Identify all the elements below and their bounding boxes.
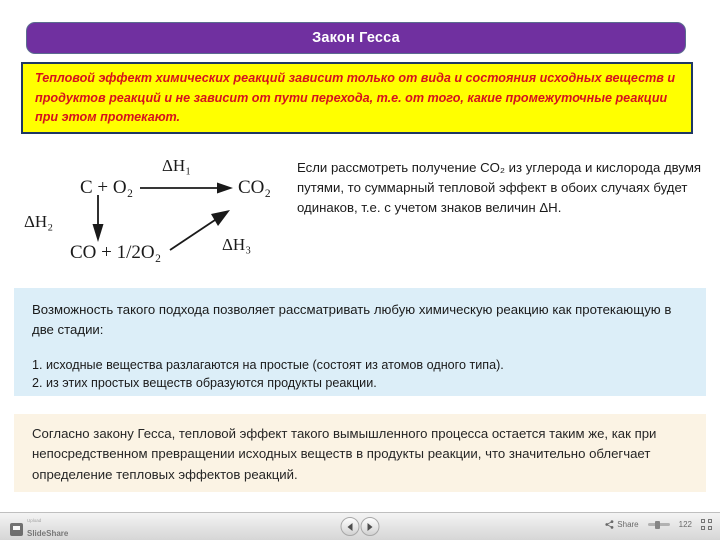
diagram-label-enthalpy-1: ΔH₁ [162,156,191,176]
slide-navigation [341,517,380,536]
share-label: Share [617,520,638,529]
list-item: 2. из этих простых веществ образуются пр… [32,374,690,393]
page-title: Закон Гесса [312,30,400,46]
two-stage-lead: Возможность такого подхода позволяет рас… [32,300,690,340]
brand-tagline: Upload [27,518,68,523]
definition-callout: Тепловой эффект химических реакций завис… [21,62,693,134]
fullscreen-corner-br [708,526,712,530]
slideshare-brand[interactable]: Upload SlideShare [10,518,68,541]
brand-name: SlideShare [27,529,68,538]
player-tools: Share 122 [605,519,712,530]
chevron-right-icon [368,523,373,531]
share-button[interactable]: Share [605,520,638,529]
brand-text-group: Upload SlideShare [27,518,68,541]
next-slide-button[interactable] [361,517,380,536]
diagram-label-enthalpy-3: ΔH₃ [222,235,251,255]
share-icon [605,520,614,529]
two-stage-step-list: 1. исходные вещества разлагаются на прос… [32,356,690,394]
definition-text: Тепловой эффект химических реакций завис… [35,69,681,128]
player-footer: Upload SlideShare Share 122 [0,512,720,540]
slideshare-logo-icon [10,523,23,536]
previous-slide-button[interactable] [341,517,360,536]
list-item: 1. исходные вещества разлагаются на прос… [32,356,690,375]
two-stage-box: Возможность такого подхода позволяет рас… [14,288,706,396]
diagram-label-product: CO₂ [238,177,271,199]
slide-title-banner: Закон Гесса [26,22,686,54]
explanation-text: Если рассмотреть получение CO₂ из углеро… [297,158,705,218]
conclusion-text: Согласно закону Гесса, тепловой эффект т… [32,424,690,485]
hess-cycle-diagram: C + O₂ CO₂ CO + 1/2O₂ ΔH₁ ΔH₂ ΔH₃ [22,150,298,270]
diagram-label-intermediate: CO + 1/2O₂ [70,242,161,264]
explanation-block: Если рассмотреть получение CO₂ из углеро… [297,158,705,218]
chevron-left-icon [348,523,353,531]
fullscreen-icon[interactable] [701,519,712,530]
fullscreen-corner-bl [701,526,705,530]
slide-canvas: Закон Гесса Тепловой эффект химических р… [0,0,720,512]
conclusion-box: Согласно закону Гесса, тепловой эффект т… [14,414,706,492]
fullscreen-corner-tl [701,519,705,523]
zoom-slider[interactable] [648,523,670,526]
slide-count: 122 [679,520,692,529]
fullscreen-corner-tr [708,519,712,523]
diagram-label-enthalpy-2: ΔH₂ [24,212,53,232]
diagram-label-reactants: C + O₂ [80,177,133,199]
